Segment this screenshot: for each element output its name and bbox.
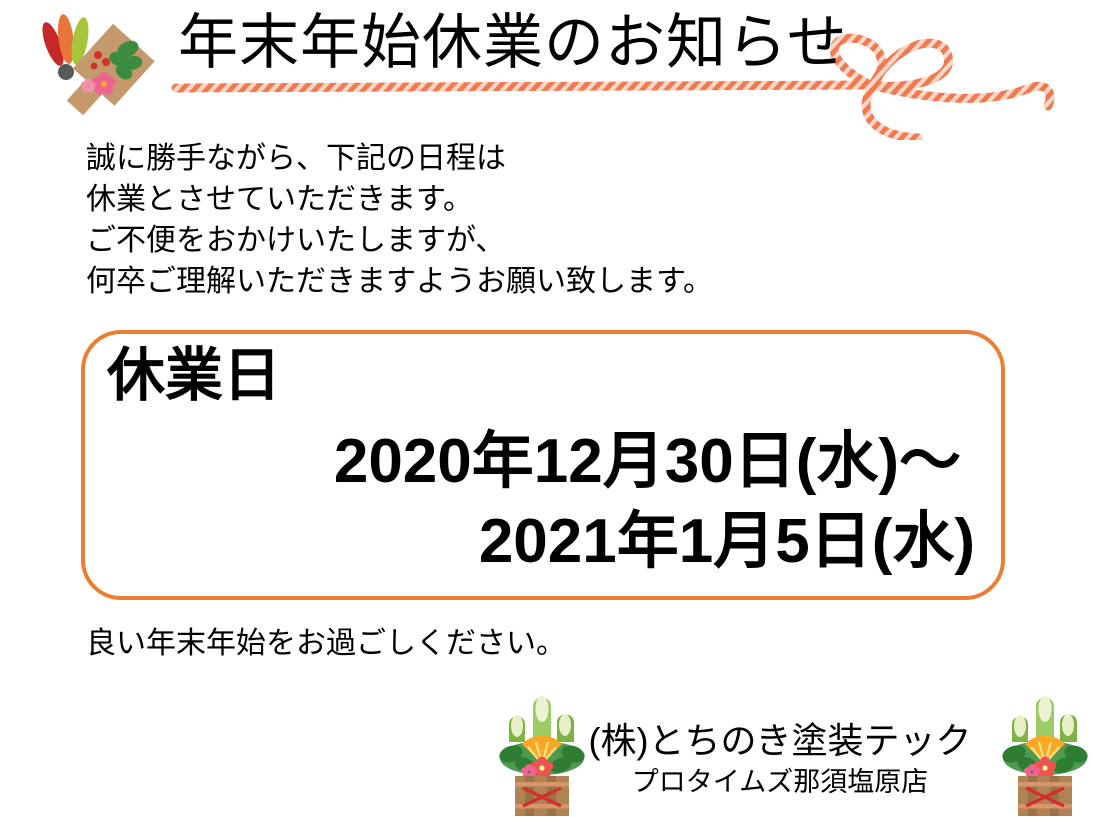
closure-date-start: 2020年12月30日(水)～ [85, 422, 975, 502]
intro-line-4: 何卒ご理解いただきますようお願い致します。 [86, 261, 713, 302]
kadomatsu-icon-left [495, 692, 589, 817]
page-title: 年末年始休業のお知らせ [178, 7, 848, 79]
intro-line-2: 休業とさせていただきます。 [86, 179, 713, 220]
kadomatsu-icon-right [998, 692, 1092, 817]
intro-paragraph: 誠に勝手ながら、下記の日程は 休業とさせていただきます。 ご不便をおかけいたしま… [86, 138, 713, 302]
intro-line-1: 誠に勝手ながら、下記の日程は [86, 138, 713, 179]
company-name: (株)とちのき塗装テック [580, 718, 980, 764]
header: 年末年始休業のお知らせ [0, 0, 1093, 140]
intro-line-3: ご不便をおかけいたしますが、 [86, 220, 713, 261]
company-branch-name: プロタイムズ那須塩原店 [580, 764, 980, 800]
closure-date-end: 2021年1月5日(水) [85, 502, 975, 582]
holiday-notice-poster: 年末年始休業のお知らせ 誠に勝手ながら、下記の日程は 休業とさせていただきます。… [0, 0, 1093, 817]
closure-dates-box: 休業日 2020年12月30日(水)～ 2021年1月5日(水) [81, 330, 1005, 600]
closure-date-range: 2020年12月30日(水)～ 2021年1月5日(水) [85, 422, 975, 582]
closing-message: 良い年末年始をお過ごしください。 [86, 623, 566, 665]
company-signature: (株)とちのき塗装テック プロタイムズ那須塩原店 [580, 718, 980, 800]
closure-label: 休業日 [107, 340, 281, 412]
hagoita-shuttlecock-icon [36, 14, 166, 124]
